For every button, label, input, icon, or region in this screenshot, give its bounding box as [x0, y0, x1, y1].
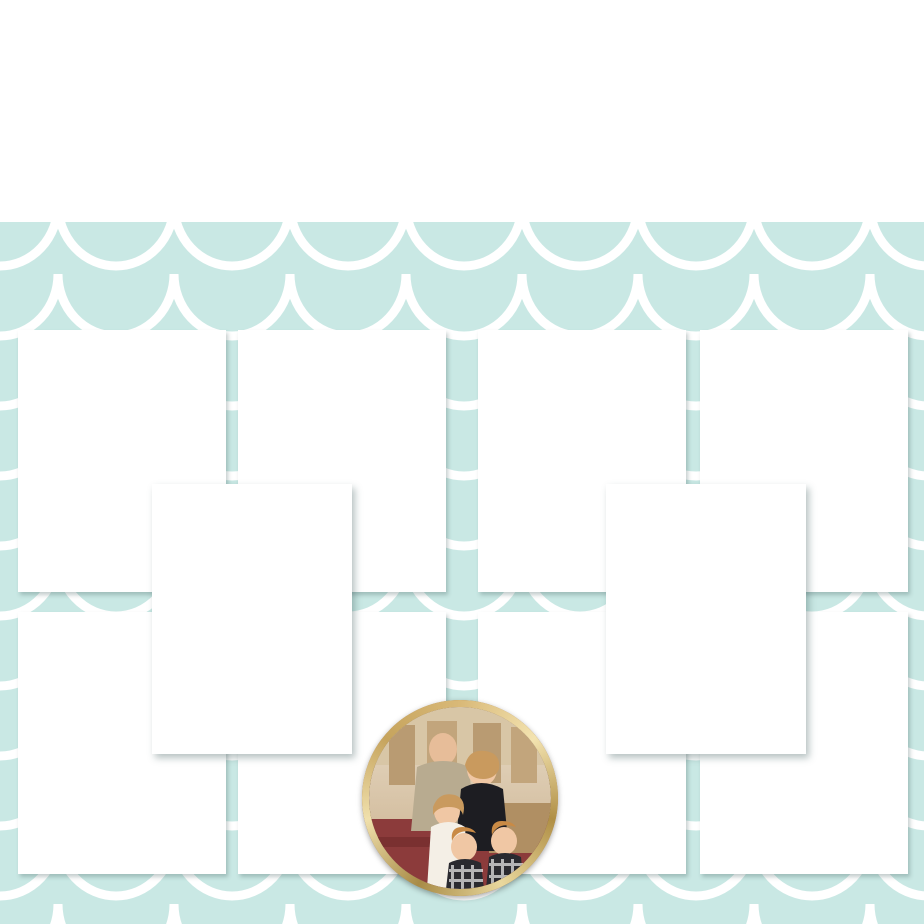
author-photo-badge[interactable]	[362, 700, 558, 896]
badge-inner	[369, 707, 551, 889]
poster-card-rhombus[interactable]	[152, 484, 352, 754]
poster-preview-page	[0, 0, 924, 924]
poster-card-circle[interactable]	[606, 484, 806, 754]
header	[0, 0, 924, 222]
badge-curved-text	[369, 707, 551, 889]
badge-gold-ring	[362, 700, 558, 896]
